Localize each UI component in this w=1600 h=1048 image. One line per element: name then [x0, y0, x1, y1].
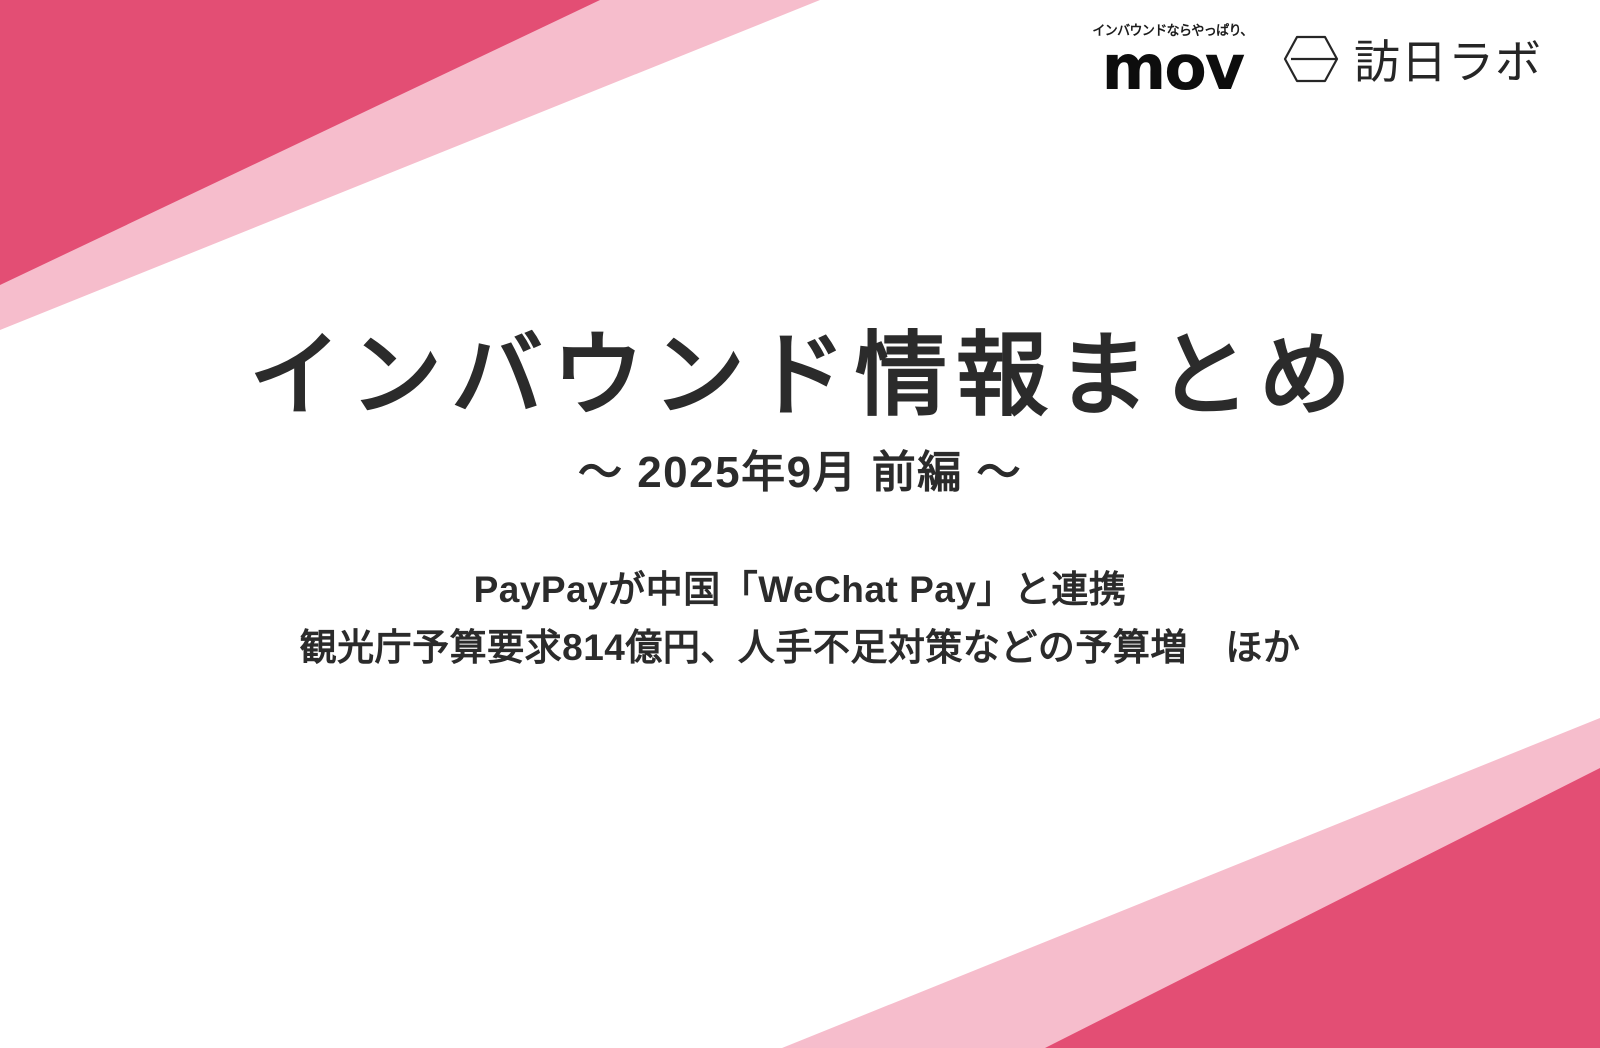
lead-line: PayPayが中国「WeChat Pay」と連携: [0, 561, 1600, 618]
slide-content: インバウンド情報まとめ 〜 2025年9月 前編 〜 PayPayが中国「WeC…: [0, 322, 1600, 676]
bottom-right-light-band-shape: [782, 718, 1600, 1048]
slide-root: インバウンドならやっぱり、 mov 訪日ラボ インバウンド情報まとめ 〜 202…: [0, 0, 1600, 1048]
page-subtitle: 〜 2025年9月 前編 〜: [0, 447, 1600, 500]
houlab-wordmark: 訪日ラボ: [1354, 39, 1542, 85]
bottom-right-dark-wedge-shape: [1045, 768, 1600, 1048]
lead-text-block: PayPayが中国「WeChat Pay」と連携 観光庁予算要求814億円、人手…: [0, 561, 1600, 676]
page-title: インバウンド情報まとめ: [0, 322, 1600, 431]
houlab-logo: 訪日ラボ: [1282, 34, 1542, 93]
hexagon-icon: [1282, 34, 1340, 89]
brand-logo: インバウンドならやっぱり、 mov 訪日ラボ: [1089, 24, 1542, 93]
top-left-light-band-shape: [0, 0, 820, 330]
mov-tagline: インバウンドならやっぱり、: [1092, 24, 1252, 38]
top-left-dark-wedge-shape: [0, 0, 600, 285]
mov-logo: インバウンドならやっぱり、 mov: [1089, 24, 1256, 93]
mov-wordmark: mov: [1102, 43, 1244, 94]
lead-line: 観光庁予算要求814億円、人手不足対策などの予算増 ほか: [0, 619, 1600, 676]
